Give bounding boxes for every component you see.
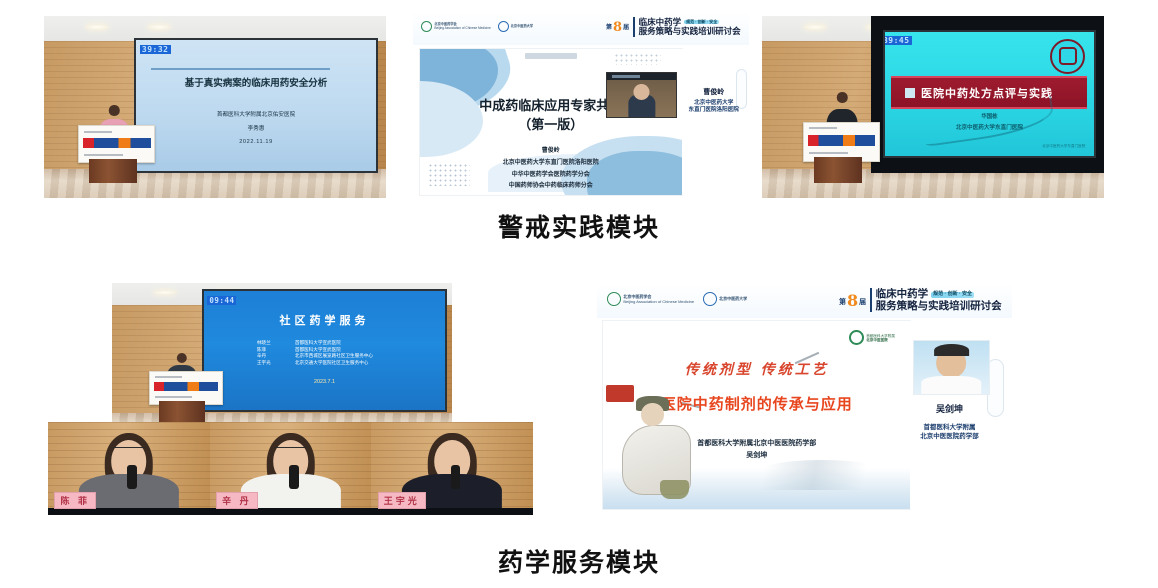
hospital-emblem-icon: [1050, 39, 1085, 74]
timer-badge: 39:32: [140, 45, 171, 54]
slide-affiliation: 首都医科大学附属北京中医医院药学部: [697, 440, 816, 447]
edition-badge: 第8届: [839, 291, 866, 310]
slide-title: 社区药学服务: [204, 312, 445, 328]
webinar-screenshot-2: 北京中医药学会 Beijing Association of Chinese M…: [597, 284, 1012, 512]
webinar-frame: 北京中医药学会 Beijing Association of Chinese M…: [597, 284, 1012, 512]
sage-illustration: [616, 393, 702, 502]
panel-speaker-affiliation: 首都医科大学附属 北京中医医院药学部: [910, 423, 988, 441]
slide-affiliation-2: 中华中医药学会医院药学分会: [420, 169, 682, 178]
shared-slide-1: 中成药临床应用专家共识 （第一版） 曹俊岭 北京中医药大学东直门医院洛阳医院 中…: [420, 49, 682, 195]
header-divider: [633, 17, 635, 37]
panel-speaker-cell: 王宇光: [371, 422, 533, 515]
panel-affiliation-line1: 北京中医药大学: [694, 100, 733, 106]
edition-suffix: 届: [859, 299, 866, 306]
org-left-sub: Beijing Association of Chinese Medicine: [623, 299, 694, 304]
speaker-info-panel-1: 曹俊岭 北京中医药大学 东直门医院洛阳医院: [682, 49, 746, 195]
nameplate: 王宇光: [378, 492, 426, 509]
conference-header: 北京中医药学会 Beijing Association of Chinese M…: [413, 12, 749, 46]
podium: [803, 122, 878, 184]
org-right-name: 北京中医药大学: [511, 24, 533, 28]
conference-title: 临床中药学规范 · 创新 · 安全 服务策略与实践培训研讨会: [876, 288, 1002, 312]
presenter-name: 王宇光: [257, 360, 287, 367]
organizer-logos: 北京中医药学会 Beijing Association of Chinese M…: [607, 292, 747, 306]
conference-keywords: 规范 · 创新 · 安全: [931, 292, 974, 298]
speaker-video-tile: [913, 340, 989, 395]
edition-prefix: 第: [839, 299, 846, 306]
lecture-photo-2: 39:45 医院中药处方点评与实践 华国栋 北京中医药大学东直门医院 北京中医药…: [762, 16, 1104, 198]
panel-affiliation-line2: 东直门医院洛阳医院: [689, 107, 739, 113]
presenter-name: 林晓兰: [257, 340, 287, 347]
shared-slide-2: 首都医科大学附属 北京中医医院 传统剂型 传统工艺 医院中药制剂的传承与应用 首…: [603, 321, 910, 509]
slide-speaker: 吴剑坤: [746, 452, 767, 459]
panel-speaker-cell: 陈 菲: [48, 422, 210, 515]
projection-screen-1: 39:32 基于真实病案的临床用药安全分析 首都医科大学附属北京佑安医院 李秀惠…: [136, 40, 375, 171]
section-caption-1: 警戒实践模块: [0, 208, 1158, 244]
slide-speaker: 华国栋: [885, 112, 1094, 120]
logo-text-line2: 北京中医医院: [866, 338, 888, 342]
edition-prefix: 第: [606, 25, 612, 31]
logo-text-line1: 首都医科大学附属: [866, 334, 895, 338]
presenter-affiliation: 北京交通大学医院社区卫生服务中心: [295, 360, 369, 367]
conference-title: 临床中药学规范 · 创新 · 安全 服务策略与实践培训研讨会: [639, 18, 741, 38]
presenter-row: 林晓兰 首都医科大学宣武医院: [257, 340, 373, 347]
conference-title-line2: 服务策略与实践培训研讨会: [876, 300, 1002, 312]
slide-footer: 北京中医药大学东直门医院: [1042, 144, 1085, 149]
slide-affiliation-3: 中国药师协会中药临床药师分会: [420, 180, 682, 189]
slide-affiliation: 北京中医药大学东直门医院: [885, 123, 1094, 131]
edition-number: 8: [613, 20, 622, 35]
timer-badge: 09:44: [207, 296, 236, 305]
speaker-info-panel-2: 吴剑坤 首都医科大学附属 北京中医医院药学部: [910, 321, 1005, 509]
org-left-sub: Beijing Association of Chinese Medicine: [434, 26, 490, 30]
conference-header: 北京中医药学会 Beijing Association of Chinese M…: [597, 284, 1012, 319]
slide-affiliation: 首都医科大学附属北京佑安医院: [136, 110, 375, 118]
university-logo-icon: [498, 21, 509, 32]
university-logo-icon: [703, 292, 717, 306]
panel-speakers-photo: 陈 菲 辛 丹 王宇光: [48, 422, 533, 515]
panel-speaker-cell: 辛 丹: [210, 422, 372, 515]
podium: [78, 125, 153, 183]
seal-stamp-icon: [606, 385, 634, 402]
lecture-photo-1: 39:32 基于真实病案的临床用药安全分析 首都医科大学附属北京佑安医院 李秀惠…: [44, 16, 386, 198]
society-logo-icon: [607, 292, 621, 306]
panel-speaker-affiliation: 北京中医药大学 东直门医院洛阳医院: [682, 100, 746, 115]
hospital-logo-icon: [849, 330, 864, 345]
panel-affiliation-line1: 首都医科大学附属: [923, 424, 975, 431]
hospital-logo: 首都医科大学附属 北京中医医院: [849, 330, 895, 345]
podium: [149, 371, 220, 422]
presenter-list: 林晓兰 首都医科大学宣武医院 陈菲 首都医科大学宣武医院 辛丹 北京市西城区展览…: [257, 340, 373, 368]
lecture-photo-3: 09:44 社区药学服务 林晓兰 首都医科大学宣武医院 陈菲 首都医科大学宣武医…: [112, 283, 452, 438]
edition-badge: 第8届: [606, 20, 629, 35]
webinar-screenshot-1: 北京中医药学会 Beijing Association of Chinese M…: [413, 12, 749, 198]
webinar-frame: 北京中医药学会 Beijing Association of Chinese M…: [413, 12, 749, 198]
slide-speaker: 曹俊岭: [420, 145, 682, 154]
presenter-row: 王宇光 北京交通大学医院社区卫生服务中心: [257, 360, 373, 367]
slide-date: 2022.11.19: [136, 139, 375, 145]
panel-affiliation-line2: 北京中医医院药学部: [920, 433, 979, 440]
edition-suffix: 届: [623, 25, 629, 31]
led-screen: 39:45 医院中药处方点评与实践 华国栋 北京中医药大学东直门医院 北京中医药…: [885, 32, 1094, 156]
slide-date: 2023.7.1: [204, 379, 445, 385]
timer-badge: 39:45: [885, 36, 911, 45]
nameplate: 陈 菲: [54, 492, 96, 509]
slide-calligraphy: 传统剂型 传统工艺: [603, 359, 910, 379]
header-divider: [870, 288, 872, 312]
slide-speaker: 李秀惠: [136, 124, 375, 132]
org-right-name: 北京中医药大学: [719, 296, 747, 301]
conference-keywords: 规范 · 创新 · 安全: [684, 20, 719, 25]
conference-title-line1: 临床中药学: [639, 17, 682, 27]
conference-title-line2: 服务策略与实践培训研讨会: [639, 26, 741, 36]
panel-speaker-name: 曹俊岭: [682, 87, 746, 97]
society-logo-icon: [421, 21, 432, 32]
projection-screen-2: 09:44 社区药学服务 林晓兰 首都医科大学宣武医院 陈菲 首都医科大学宣武医…: [204, 291, 445, 410]
slide-title: 基于真实病案的临床用药安全分析: [136, 75, 375, 89]
panel-speaker-name: 吴剑坤: [910, 402, 988, 415]
edition-number: 8: [847, 291, 858, 310]
poster-canvas: 39:32 基于真实病案的临床用药安全分析 首都医科大学附属北京佑安医院 李秀惠…: [0, 0, 1158, 588]
nameplate: 辛 丹: [216, 492, 258, 509]
speaker-video-tile: [606, 72, 676, 118]
section-caption-2: 药学服务模块: [0, 543, 1158, 579]
slide-affiliation-1: 北京中医药大学东直门医院洛阳医院: [420, 157, 682, 166]
organizer-logos: 北京中医药学会 Beijing Association of Chinese M…: [421, 21, 533, 32]
bullet-icon: [905, 88, 915, 98]
presenter-affiliation: 首都医科大学宣武医院: [295, 340, 341, 347]
conference-title-line1: 临床中药学: [876, 288, 929, 300]
